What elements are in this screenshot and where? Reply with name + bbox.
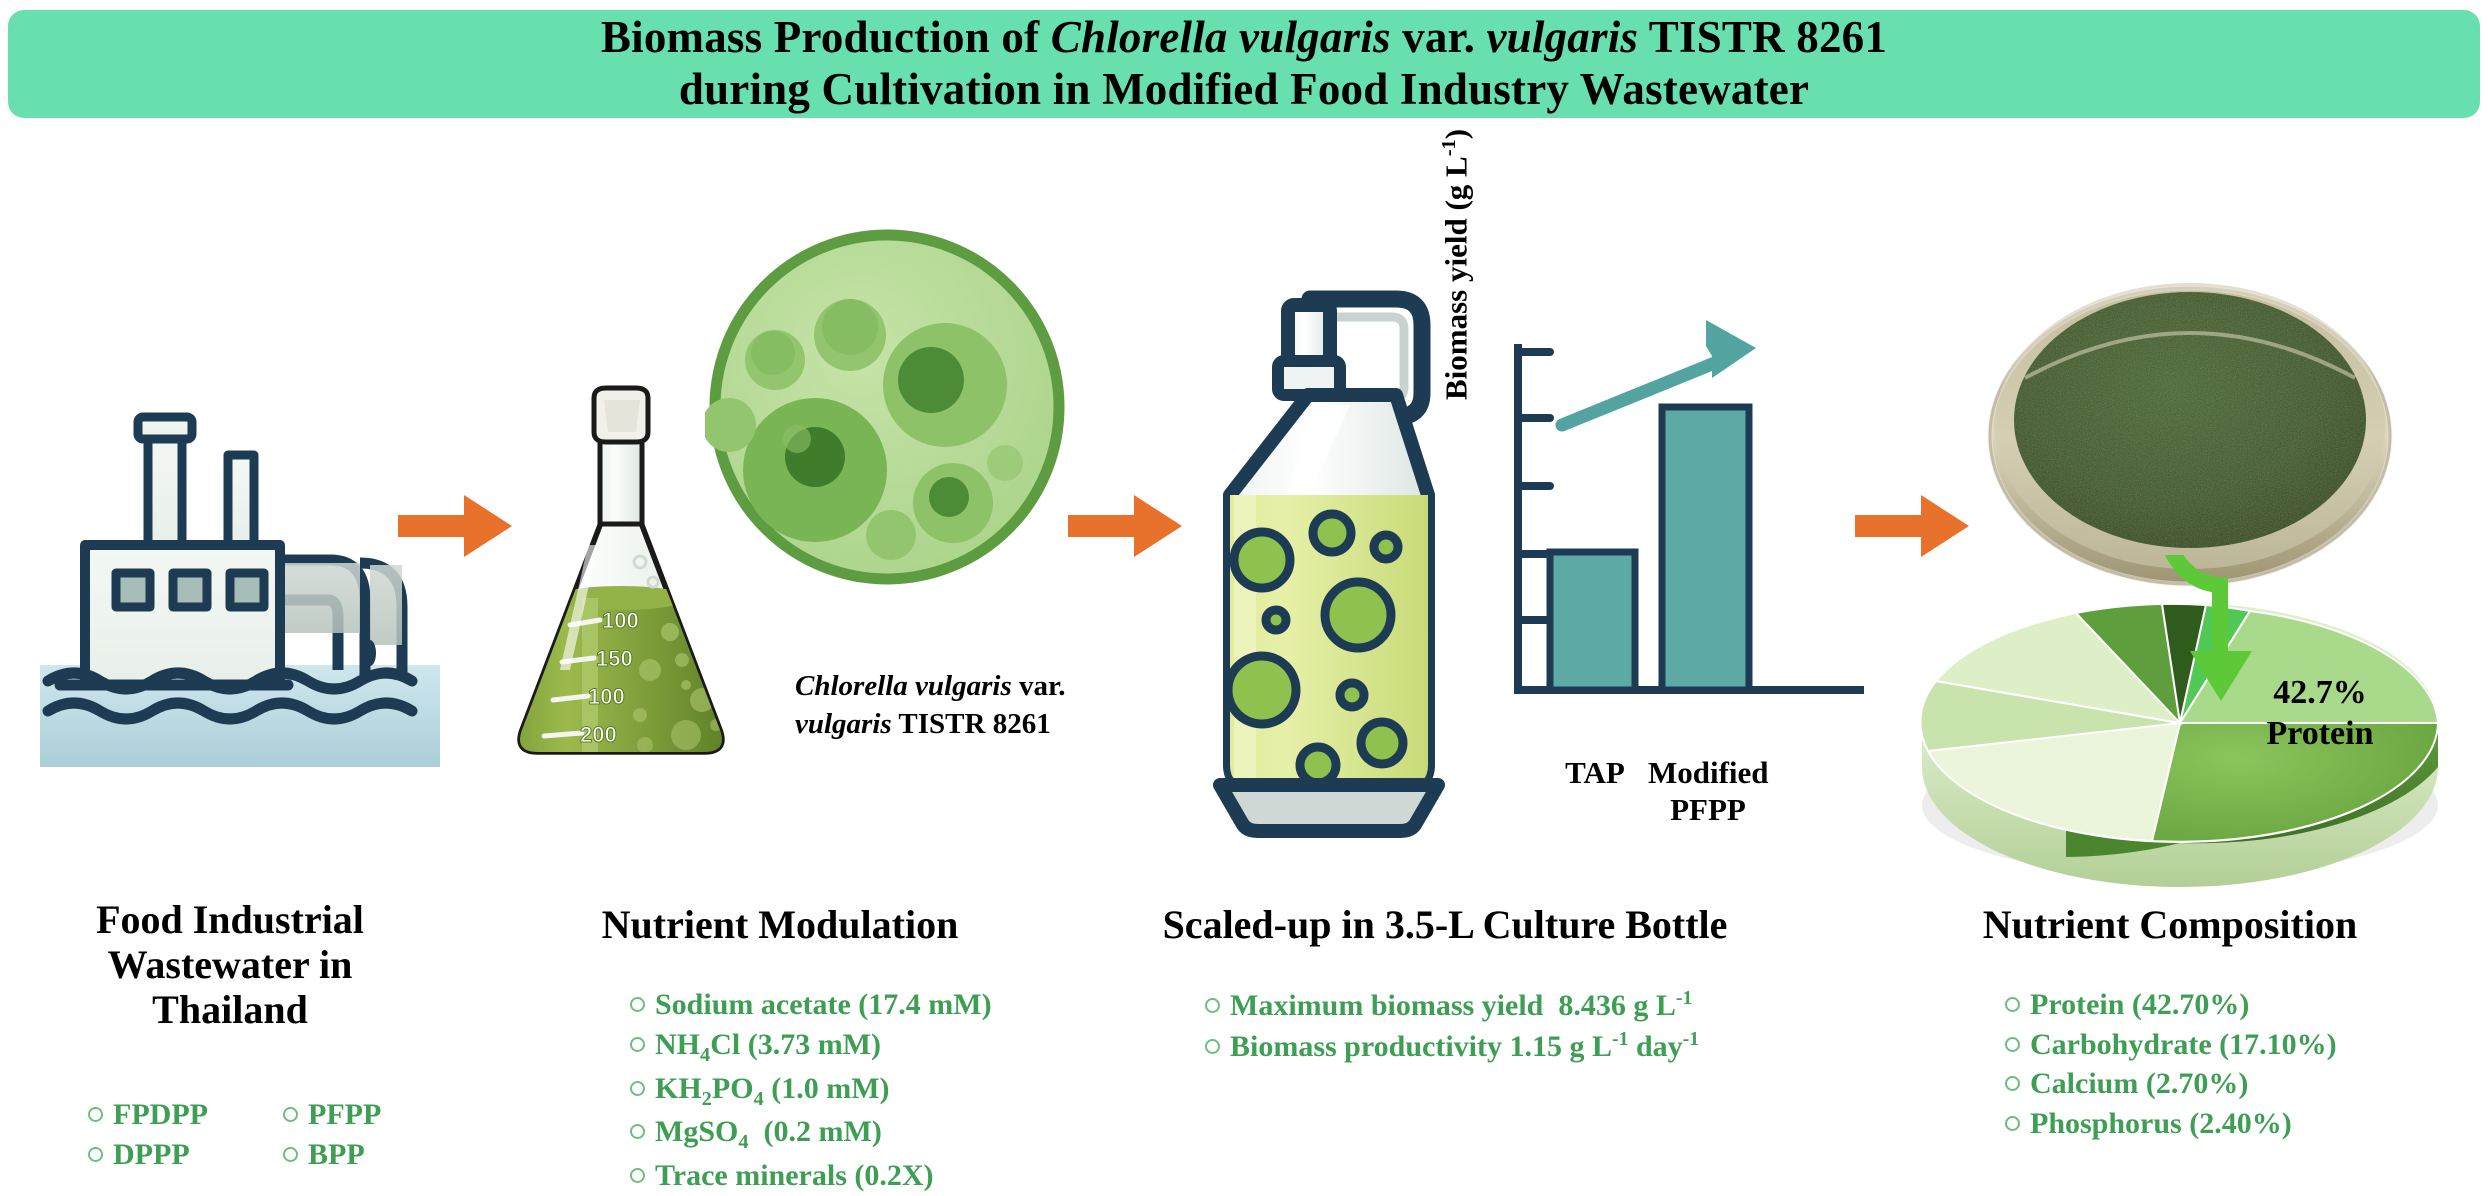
bullet-trace-minerals: Trace minerals (0.2X) [630, 1156, 992, 1196]
bullet-ring-icon [630, 1168, 645, 1183]
bullet-kh2po4: KH2PO4 (1.0 mM) [630, 1069, 992, 1113]
section-heading-nutrient-composition: Nutrient Composition [1860, 903, 2480, 948]
bullet-biomass-productivity: Biomass productivity 1.15 g L-1 day-1 [1205, 1026, 1699, 1067]
flask-grad-150: 150 [596, 646, 633, 671]
bullet-list-nutrient-modulation: Sodium acetate (17.4 mM) NH4Cl (3.73 mM)… [630, 985, 992, 1196]
bullet-calcium: Calcium (2.70%) [2005, 1064, 2337, 1104]
bullet-dppp: DPPP [88, 1135, 208, 1175]
section-heading-wastewater: Food Industrial Wastewater in Thailand [35, 898, 425, 1032]
bullet-ring-icon [283, 1107, 298, 1122]
bullet-max-biomass-yield: Maximum biomass yield 8.436 g L-1 [1205, 985, 1699, 1026]
chart-y-axis-label: Biomass yield (g L-1) [1438, 129, 1474, 400]
chart-xtick-tap: TAP [1550, 755, 1640, 792]
bullet-ring-icon [88, 1107, 103, 1122]
flask-grad-100: 100 [602, 608, 639, 633]
species-strain: TISTR 8261 [892, 708, 1051, 740]
bullet-fpdpp: FPDPP [88, 1095, 208, 1135]
biomass-yield-bar-chart: Biomass yield (g L-1) TAP ModifiedP [1450, 300, 1890, 860]
bullet-list-wastewater-left: FPDPP DPPP [88, 1095, 208, 1174]
bullet-pfpp: PFPP [283, 1095, 381, 1135]
species-name-italic: Chlorella vulgaris [795, 670, 1012, 702]
bullet-ring-icon [1205, 998, 1220, 1013]
bullet-bpp: BPP [283, 1135, 381, 1175]
chart-y-ticks [1518, 352, 1550, 620]
species-caption: Chlorella vulgaris var. vulgaris TISTR 8… [795, 668, 1125, 743]
species-var: var. [1012, 670, 1066, 702]
bullet-list-nutrient-composition: Protein (42.70%) Carbohydrate (17.10%) C… [2005, 985, 2337, 1143]
arrow-flask-to-bottle [1068, 487, 1188, 570]
section-heading-scaled-up: Scaled-up in 3.5-L Culture Bottle [1090, 903, 1800, 948]
bullet-ring-icon [88, 1147, 103, 1162]
flask-grad-100b: 100 [588, 684, 625, 709]
flask-grad-200: 200 [580, 722, 617, 747]
species-variety-italic: vulgaris [795, 708, 892, 740]
bullet-protein: Protein (42.70%) [2005, 985, 2337, 1025]
factory-wastewater-icon [30, 395, 450, 795]
chlorella-cell-icon [705, 225, 1070, 590]
petri-dish-algae-powder-icon [1965, 258, 2415, 598]
bullet-list-wastewater-right: PFPP BPP [283, 1095, 381, 1174]
bullet-sodium-acetate: Sodium acetate (17.4 mM) [630, 985, 992, 1025]
bullet-list-scaled-up: Maximum biomass yield 8.436 g L-1 Biomas… [1205, 985, 1699, 1066]
bullet-ring-icon [630, 1124, 645, 1139]
chart-bar-tap [1550, 552, 1635, 690]
chart-plot-area [1450, 300, 1890, 760]
bullet-ring-icon [630, 997, 645, 1012]
bullet-nh4cl: NH4Cl (3.73 mM) [630, 1025, 992, 1069]
bullet-ring-icon [1205, 1039, 1220, 1054]
bullet-ring-icon [2005, 997, 2020, 1012]
bullet-ring-icon [2005, 1116, 2020, 1131]
bullet-ring-icon [283, 1147, 298, 1162]
bullet-ring-icon [2005, 1037, 2020, 1052]
chart-xtick-modified-pfpp: ModifiedPFPP [1648, 755, 1768, 828]
bullet-mgso4: MgSO4 (0.2 mM) [630, 1112, 992, 1156]
section-heading-nutrient-modulation: Nutrient Modulation [470, 903, 1090, 948]
bullet-carbohydrate: Carbohydrate (17.10%) [2005, 1025, 2337, 1065]
chart-bar-modified-pfpp [1662, 407, 1749, 690]
bullet-ring-icon [630, 1037, 645, 1052]
bullet-ring-icon [2005, 1076, 2020, 1091]
pie-highlight-label: 42.7% Protein [2220, 673, 2420, 755]
bullet-ring-icon [630, 1081, 645, 1096]
bullet-phosphorus: Phosphorus (2.40%) [2005, 1104, 2337, 1144]
pie-pct-label: Protein [2266, 715, 2373, 752]
nutrient-composition-pie-chart: 42.7% Protein [1890, 555, 2470, 895]
pie-pct: 42.7% [2273, 674, 2367, 711]
